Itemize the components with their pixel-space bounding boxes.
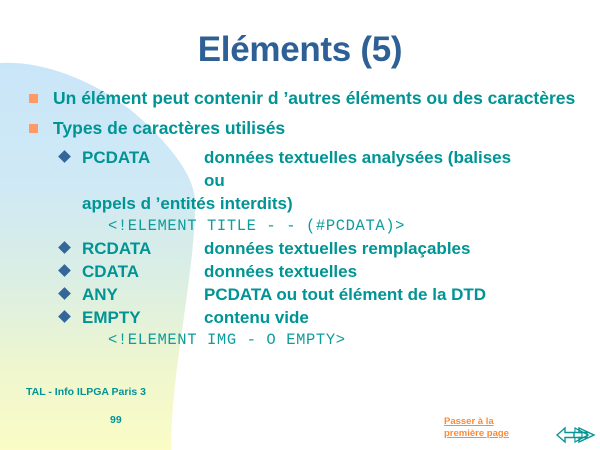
bullet-level1-label: Un élément peut contenir d ’autres éléme… xyxy=(53,88,575,108)
code-line: <!ELEMENT IMG - O EMPTY> xyxy=(26,329,578,351)
bullet-level1-item: Un élément peut contenir d ’autres éléme… xyxy=(26,86,578,110)
diamond-bullet-icon xyxy=(58,287,71,300)
slide-content: Un élément peut contenir d ’autres éléme… xyxy=(26,86,578,351)
bullet-level1-label: Types de caractères utilisés xyxy=(53,118,285,138)
sub-item-row: EMPTYcontenu vide xyxy=(26,306,578,329)
sub-item-term: RCDATA xyxy=(82,237,204,260)
square-bullet-icon xyxy=(29,124,38,133)
sub-item-row: RCDATAdonnées textuelles remplaçables xyxy=(26,237,578,260)
left-right-arrows-icon[interactable] xyxy=(556,425,596,445)
slide-title: Eléments (5) xyxy=(0,30,600,70)
diamond-bullet-icon xyxy=(58,150,71,163)
sub-item-row: CDATAdonnées textuelles xyxy=(26,260,578,283)
sub-item-description: données textuelles xyxy=(204,260,534,283)
sub-item-term: PCDATA xyxy=(82,146,204,169)
sub-item-row: PCDATAdonnées textuelles analysées (bali… xyxy=(26,146,578,192)
diamond-bullet-icon xyxy=(58,264,71,277)
diamond-bullet-icon xyxy=(58,241,71,254)
sub-item-description: données textuelles remplaçables xyxy=(204,237,534,260)
diamond-bullet-icon xyxy=(58,310,71,323)
sub-item-continuation-label: appels d ’entités interdits) xyxy=(82,194,293,213)
square-bullet-icon xyxy=(29,94,38,103)
presentation-slide: Eléments (5) Un élément peut contenir d … xyxy=(0,0,600,450)
sub-item-term: ANY xyxy=(82,283,204,306)
sub-item-description: PCDATA ou tout élément de la DTD xyxy=(204,283,534,306)
bullet-level1-item: Types de caractères utilisés xyxy=(26,116,578,140)
sub-item-row: ANYPCDATA ou tout élément de la DTD xyxy=(26,283,578,306)
sub-item-description: contenu vide xyxy=(204,306,534,329)
sub-item-term: EMPTY xyxy=(82,306,204,329)
code-line: <!ELEMENT TITLE - - (#PCDATA)> xyxy=(26,215,578,237)
page-number: 99 xyxy=(110,414,122,426)
sub-item-term: CDATA xyxy=(82,260,204,283)
footer-credit: TAL - Info ILPGA Paris 3 xyxy=(26,386,146,398)
sub-item-description: données textuelles analysées (balises ou xyxy=(204,146,534,192)
first-page-link[interactable]: Passer à la première page xyxy=(444,416,524,440)
sub-item-continuation: appels d ’entités interdits) xyxy=(26,192,578,215)
